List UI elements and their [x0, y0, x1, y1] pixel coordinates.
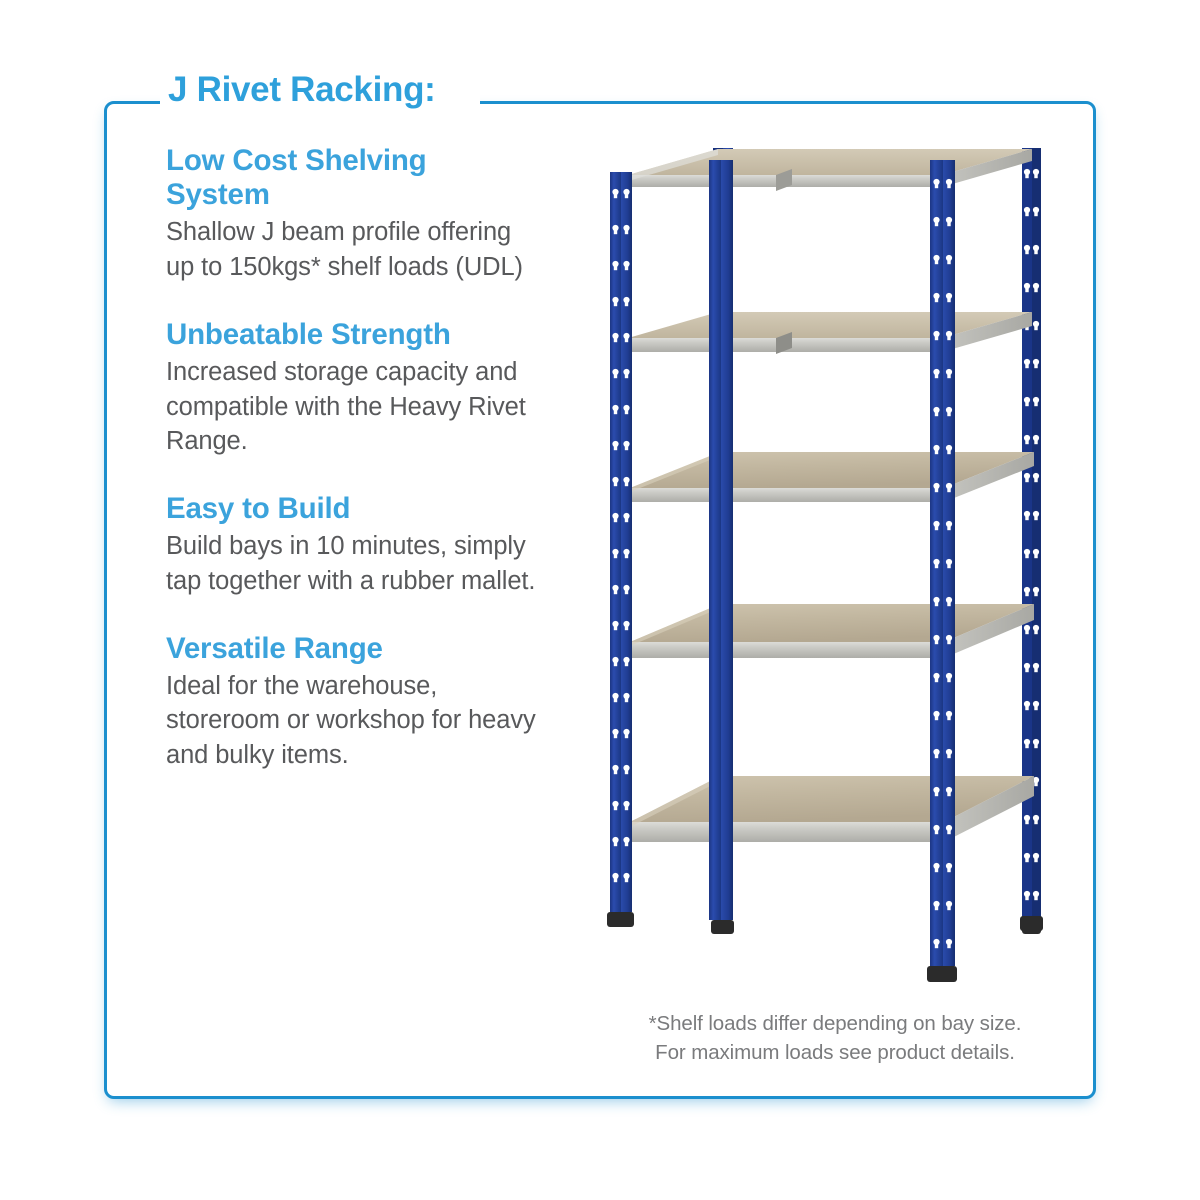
shelf-4: [630, 604, 1034, 658]
footnote: *Shelf loads differ depending on bay siz…: [600, 1009, 1070, 1067]
feature-heading: Versatile Range: [166, 632, 536, 666]
feature-heading: Unbeatable Strength: [166, 318, 536, 352]
product-image-racking-bay: [570, 130, 1070, 1010]
racking-bay-illustration: [570, 130, 1070, 1010]
shelf-1: [628, 149, 1032, 191]
feature-body: Shallow J beam profile offering up to 15…: [166, 215, 536, 284]
post-centre: [709, 160, 733, 920]
shelf-3: [630, 452, 1034, 502]
footnote-line-2: For maximum loads see product details.: [600, 1038, 1070, 1067]
feature-item-low-cost-shelving-system: Low Cost Shelving System Shallow J beam …: [166, 144, 536, 285]
feature-heading: Low Cost Shelving System: [166, 144, 536, 212]
feature-body: Build bays in 10 minutes, simply tap tog…: [166, 529, 536, 598]
shelf-5: [630, 776, 1034, 842]
feature-body: Increased storage capacity and compatibl…: [166, 355, 536, 459]
post-front-right: [927, 160, 957, 982]
post-front-left: [607, 172, 634, 927]
feature-item-easy-to-build: Easy to Build Build bays in 10 minutes, …: [166, 492, 536, 599]
infographic-card: J Rivet Racking: Low Cost Shelving Syste…: [0, 0, 1200, 1200]
foot-rear-right: [1020, 916, 1043, 931]
feature-item-unbeatable-strength: Unbeatable Strength Increased storage ca…: [166, 318, 536, 459]
foot-rear-left: [711, 920, 734, 934]
feature-item-versatile-range: Versatile Range Ideal for the warehouse,…: [166, 632, 536, 773]
foot-front-left: [607, 912, 634, 927]
post-rear-right: [1022, 148, 1041, 934]
page-title: J Rivet Racking:: [168, 72, 436, 107]
foot-front-right: [927, 966, 957, 982]
shelf-2: [628, 312, 1032, 354]
footnote-line-1: *Shelf loads differ depending on bay siz…: [600, 1009, 1070, 1038]
feature-list: Low Cost Shelving System Shallow J beam …: [166, 144, 536, 773]
feature-body: Ideal for the warehouse, storeroom or wo…: [166, 669, 536, 773]
feature-heading: Easy to Build: [166, 492, 536, 526]
